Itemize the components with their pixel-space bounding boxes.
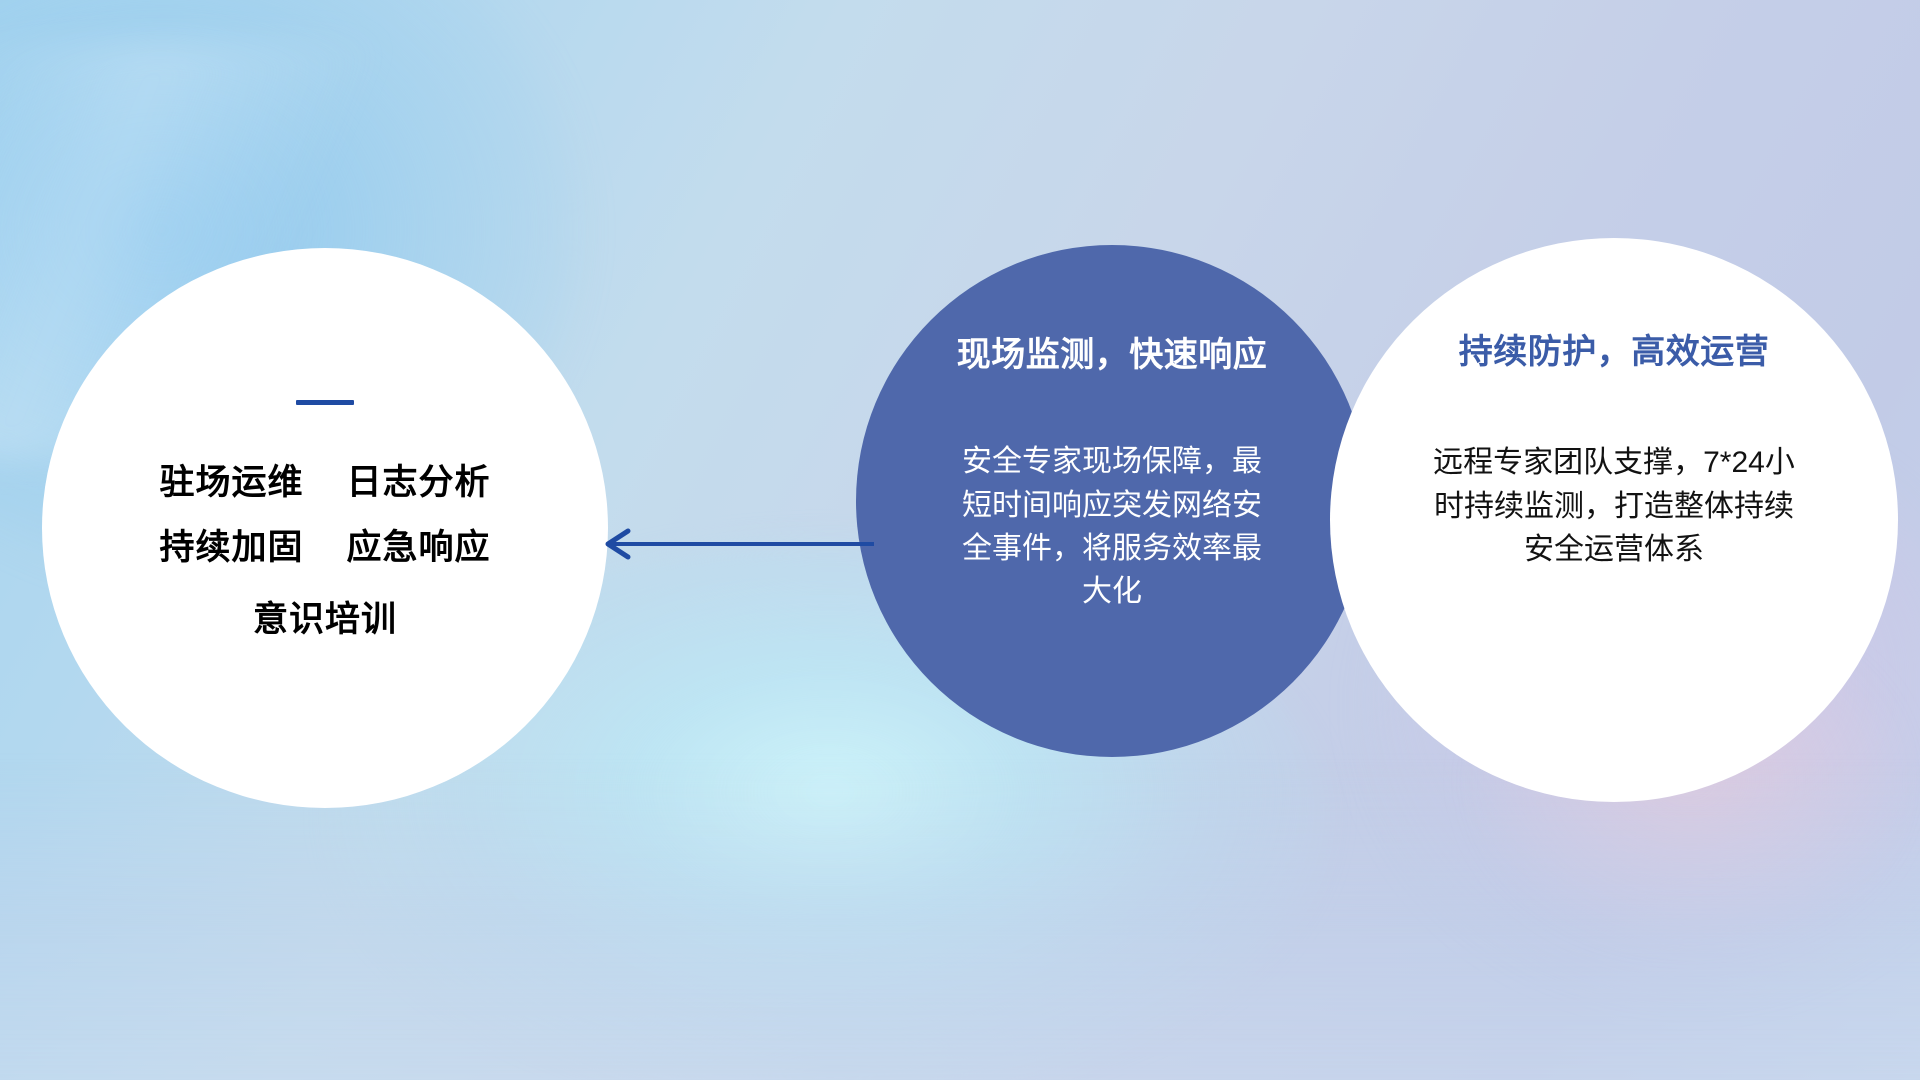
left-circle-content: 驻场运维 日志分析 持续加固 应急响应 意识培训 [42, 248, 608, 808]
blue-circle-shape [856, 245, 1368, 757]
right-circle-shape [1330, 238, 1898, 802]
connector-arrow [596, 520, 876, 568]
slide-canvas: 驻场运维 日志分析 持续加固 应急响应 意识培训 现场监测，快速响应 安全专家现… [0, 0, 1920, 1080]
service-line-1: 驻场运维 日志分析 [160, 465, 491, 500]
service-line-3: 意识培训 [253, 602, 397, 637]
service-line-2: 持续加固 应急响应 [160, 530, 491, 565]
left-circle-divider [296, 400, 354, 405]
